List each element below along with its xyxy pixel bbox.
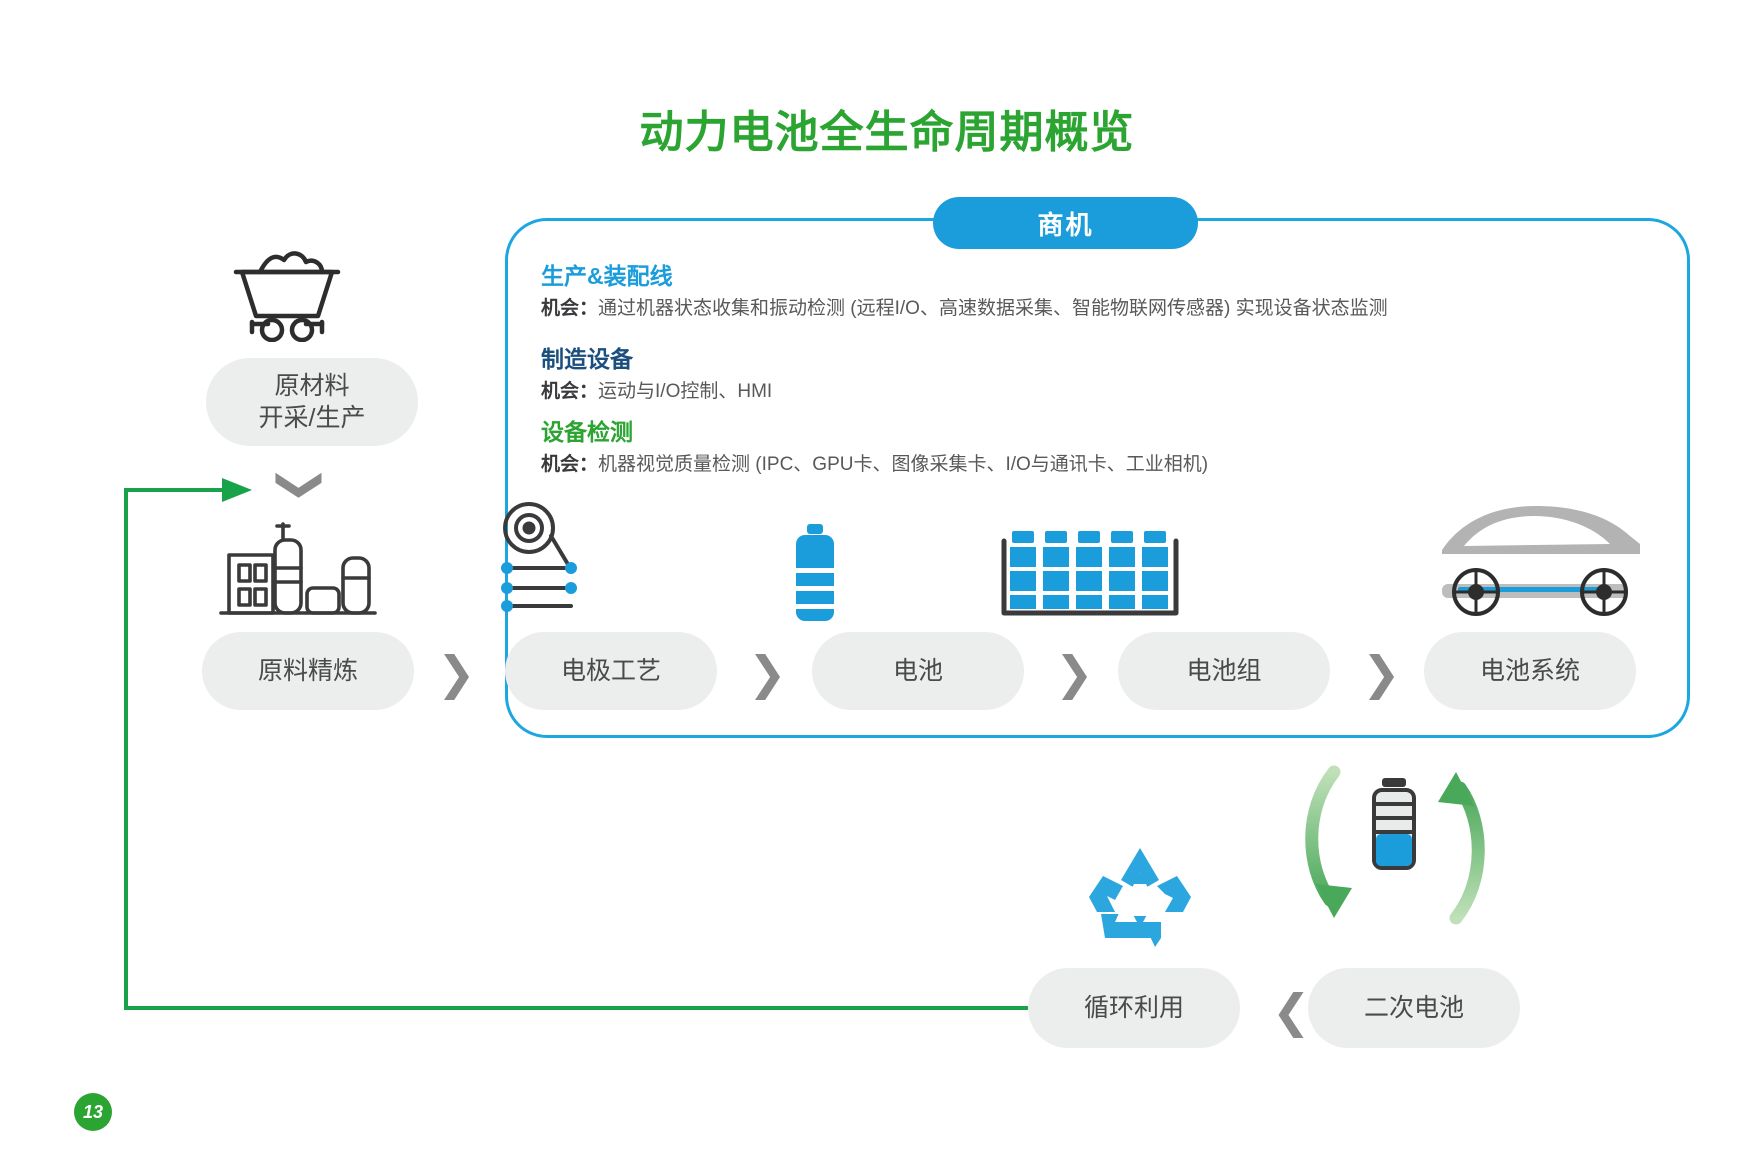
- stage-pill-electrode[interactable]: 电极工艺: [505, 632, 717, 710]
- opportunity-body: 机会：通过机器状态收集和振动检测 (远程I/O、高速数据采集、智能物联网传感器)…: [541, 297, 1388, 322]
- opportunity-label: 机会：: [541, 298, 598, 319]
- opportunity-label: 机会：: [541, 454, 598, 475]
- stage-pill-raw-material[interactable]: 原材料 开采/生产: [206, 358, 418, 446]
- slide-canvas: 动力电池全生命周期概览 商机 生产&装配线 机会：通过机器状态收集和振动检测 (…: [0, 0, 1764, 1172]
- opportunity-block-production-assembly: 生产&装配线 机会：通过机器状态收集和振动检测 (远程I/O、高速数据采集、智能…: [541, 262, 1388, 321]
- opportunity-body: 机会：运动与I/O控制、HMI: [541, 380, 772, 405]
- opportunity-label: 机会：: [541, 381, 598, 402]
- page-number-text: 13: [83, 1102, 103, 1123]
- stage-pill-cell[interactable]: 电池: [812, 632, 1024, 710]
- recycle-icon: [1085, 842, 1195, 947]
- chevron-right-icon: ❯: [437, 650, 476, 696]
- opportunity-text: 通过机器状态收集和振动检测 (远程I/O、高速数据采集、智能物联网传感器) 实现…: [598, 298, 1388, 319]
- stage-pill-module[interactable]: 电池组: [1118, 632, 1330, 710]
- stage-pill-module-label: 电池组: [1186, 655, 1261, 687]
- opportunity-badge: 商机: [933, 197, 1198, 249]
- stage-pill-recycle[interactable]: 循环利用: [1028, 968, 1240, 1048]
- opportunity-heading: 生产&装配线: [541, 262, 1388, 291]
- opportunity-heading: 设备检测: [541, 418, 1208, 447]
- mining-cart-icon: [222, 232, 352, 342]
- opportunity-text: 运动与I/O控制、HMI: [598, 381, 772, 402]
- electrode-roll-icon: [487, 500, 627, 625]
- stage-pill-system-label: 电池系统: [1480, 655, 1580, 687]
- chevron-left-icon: ❮: [1272, 988, 1311, 1034]
- opportunity-block-equipment-inspection: 设备检测 机会：机器视觉质量检测 (IPC、GPU卡、图像采集卡、I/O与通讯卡…: [541, 418, 1208, 477]
- opportunity-badge-label: 商机: [1037, 205, 1093, 242]
- stage-pill-second-life-label: 二次电池: [1364, 992, 1464, 1024]
- stage-pill-second-life[interactable]: 二次电池: [1308, 968, 1520, 1048]
- opportunity-heading: 制造设备: [541, 345, 772, 374]
- stage-pill-recycle-label: 循环利用: [1084, 992, 1184, 1024]
- stage-pill-raw-material-line1: 原材料: [259, 370, 366, 402]
- second-life-loop-icon: [1300, 748, 1490, 948]
- chevron-down-icon: ❯: [279, 466, 325, 505]
- ev-chassis-icon: [1418, 498, 1653, 623]
- opportunity-body: 机会：机器视觉质量检测 (IPC、GPU卡、图像采集卡、I/O与通讯卡、工业相机…: [541, 453, 1208, 478]
- battery-module-icon: [1000, 525, 1200, 625]
- chevron-right-icon: ❯: [1055, 650, 1094, 696]
- opportunity-text: 机器视觉质量检测 (IPC、GPU卡、图像采集卡、I/O与通讯卡、工业相机): [598, 454, 1208, 475]
- stage-pill-electrode-label: 电极工艺: [561, 655, 661, 687]
- chevron-right-icon: ❯: [748, 650, 787, 696]
- stage-pill-raw-material-line2: 开采/生产: [259, 402, 366, 434]
- stage-pill-refining-label: 原料精炼: [258, 655, 358, 687]
- stage-pill-cell-label: 电池: [893, 655, 943, 687]
- stage-pill-refining[interactable]: 原料精炼: [202, 632, 414, 710]
- page-number-badge: 13: [74, 1093, 112, 1131]
- page-title: 动力电池全生命周期概览: [0, 96, 1764, 160]
- stage-pill-system[interactable]: 电池系统: [1424, 632, 1636, 710]
- opportunity-block-manufacturing-equipment: 制造设备 机会：运动与I/O控制、HMI: [541, 345, 772, 404]
- chevron-right-icon: ❯: [1362, 650, 1401, 696]
- refinery-plant-icon: [215, 510, 380, 625]
- battery-cell-icon: [775, 522, 855, 627]
